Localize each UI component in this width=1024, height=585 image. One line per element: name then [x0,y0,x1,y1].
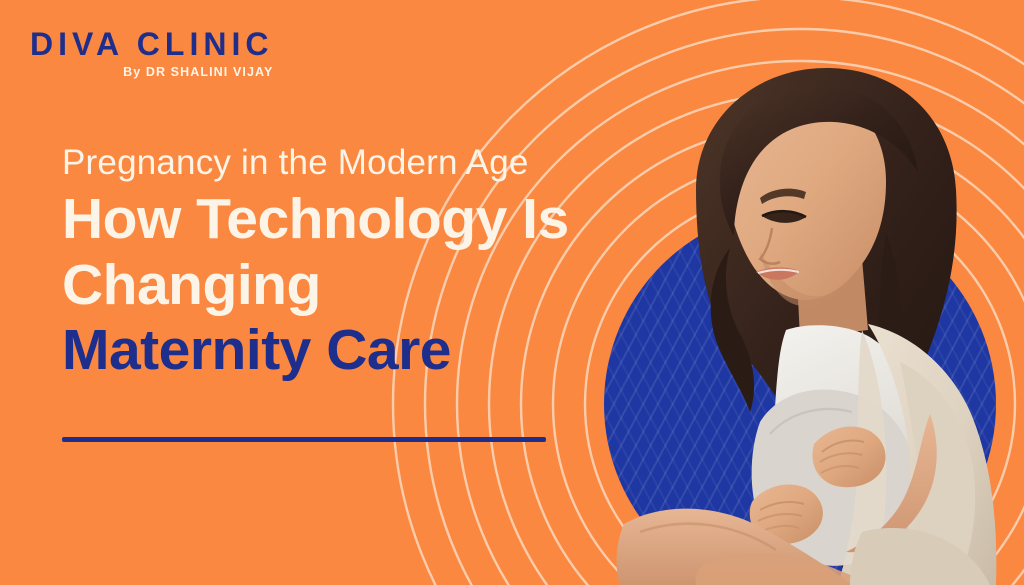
headline-line-1: How Technology Is [62,187,682,253]
brand-logo[interactable]: DIVA CLINIC By DR SHALINI VIJAY [30,28,273,79]
headline-line-3: Maternity Care [62,318,682,384]
blog-banner: DIVA CLINIC By DR SHALINI VIJAY Pregnanc… [0,0,1024,585]
eyebrow-text: Pregnancy in the Modern Age [62,143,682,183]
headline-block: Pregnancy in the Modern Age How Technolo… [62,143,682,384]
page-title: How Technology Is Changing Maternity Car… [62,187,682,384]
headline-line-2: Changing [62,253,682,319]
brand-byline: By DR SHALINI VIJAY [30,65,273,79]
underline-rule [62,437,546,442]
brand-name: DIVA CLINIC [30,28,273,62]
